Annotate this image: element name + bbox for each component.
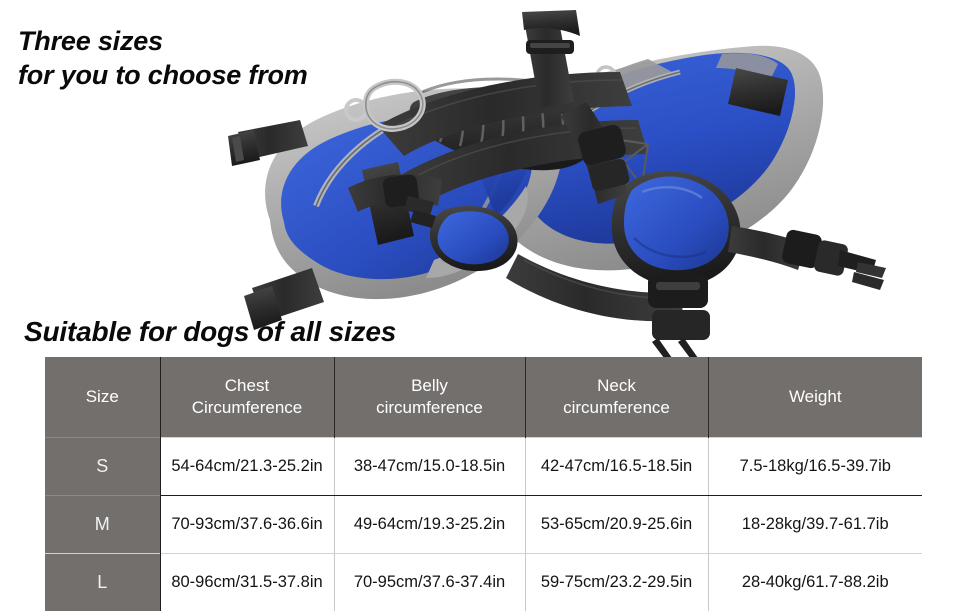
cell-size: S — [45, 438, 160, 496]
cell-neck: 42-47cm/16.5-18.5in — [525, 438, 708, 496]
cell-chest: 54-64cm/21.3-25.2in — [160, 438, 334, 496]
column-header-weight: Weight — [708, 357, 922, 438]
column-header-neck-line-2: circumference — [563, 398, 670, 417]
column-header-chest-circumference: Chest Circumference — [160, 357, 334, 438]
cell-belly: 70-95cm/37.6-37.4in — [334, 554, 525, 611]
column-header-neck-line-1: Neck — [597, 376, 636, 395]
cell-chest: 80-96cm/31.5-37.8in — [160, 554, 334, 611]
cell-weight: 7.5-18kg/16.5-39.7ib — [708, 438, 922, 496]
table-header-row: Size Chest Circumference Belly circumfer… — [45, 357, 922, 438]
cell-neck: 59-75cm/23.2-29.5in — [525, 554, 708, 611]
section-title-suitable-for-dogs: Suitable for dogs of all sizes — [24, 315, 396, 349]
column-header-belly-line-1: Belly — [411, 376, 448, 395]
page-title-line-1: Three sizes — [18, 24, 308, 58]
column-header-chest-line-2: Circumference — [192, 398, 303, 417]
cell-size: M — [45, 496, 160, 554]
column-header-belly-circumference: Belly circumference — [334, 357, 525, 438]
cell-neck: 53-65cm/20.9-25.6in — [525, 496, 708, 554]
cell-weight: 28-40kg/61.7-88.2ib — [708, 554, 922, 611]
product-illustration — [228, 10, 888, 358]
size-chart-header: Size Chest Circumference Belly circumfer… — [45, 357, 922, 438]
page-title-three-sizes: Three sizes for you to choose from — [18, 24, 308, 92]
column-header-belly-line-2: circumference — [376, 398, 483, 417]
table-row: M 70-93cm/37.6-36.6in 49-64cm/19.3-25.2i… — [45, 496, 922, 554]
table-row: S 54-64cm/21.3-25.2in 38-47cm/15.0-18.5i… — [45, 438, 922, 496]
harness-buckle-bottom-center — [648, 274, 710, 358]
column-header-size: Size — [45, 357, 160, 438]
product-photo-dog-backpack-harness — [228, 10, 888, 358]
cell-size: L — [45, 554, 160, 611]
harness-side-release-buckle-right — [728, 226, 886, 290]
cell-belly: 38-47cm/15.0-18.5in — [334, 438, 525, 496]
cell-weight: 18-28kg/39.7-61.7ib — [708, 496, 922, 554]
size-chart-body: S 54-64cm/21.3-25.2in 38-47cm/15.0-18.5i… — [45, 438, 922, 611]
column-header-neck-circumference: Neck circumference — [525, 357, 708, 438]
cell-belly: 49-64cm/19.3-25.2in — [334, 496, 525, 554]
page-title-line-2: for you to choose from — [18, 58, 308, 92]
table-row: L 80-96cm/31.5-37.8in 70-95cm/37.6-37.4i… — [45, 554, 922, 611]
column-header-chest-line-1: Chest — [225, 376, 269, 395]
cell-chest: 70-93cm/37.6-36.6in — [160, 496, 334, 554]
size-chart-table: Size Chest Circumference Belly circumfer… — [45, 357, 922, 611]
